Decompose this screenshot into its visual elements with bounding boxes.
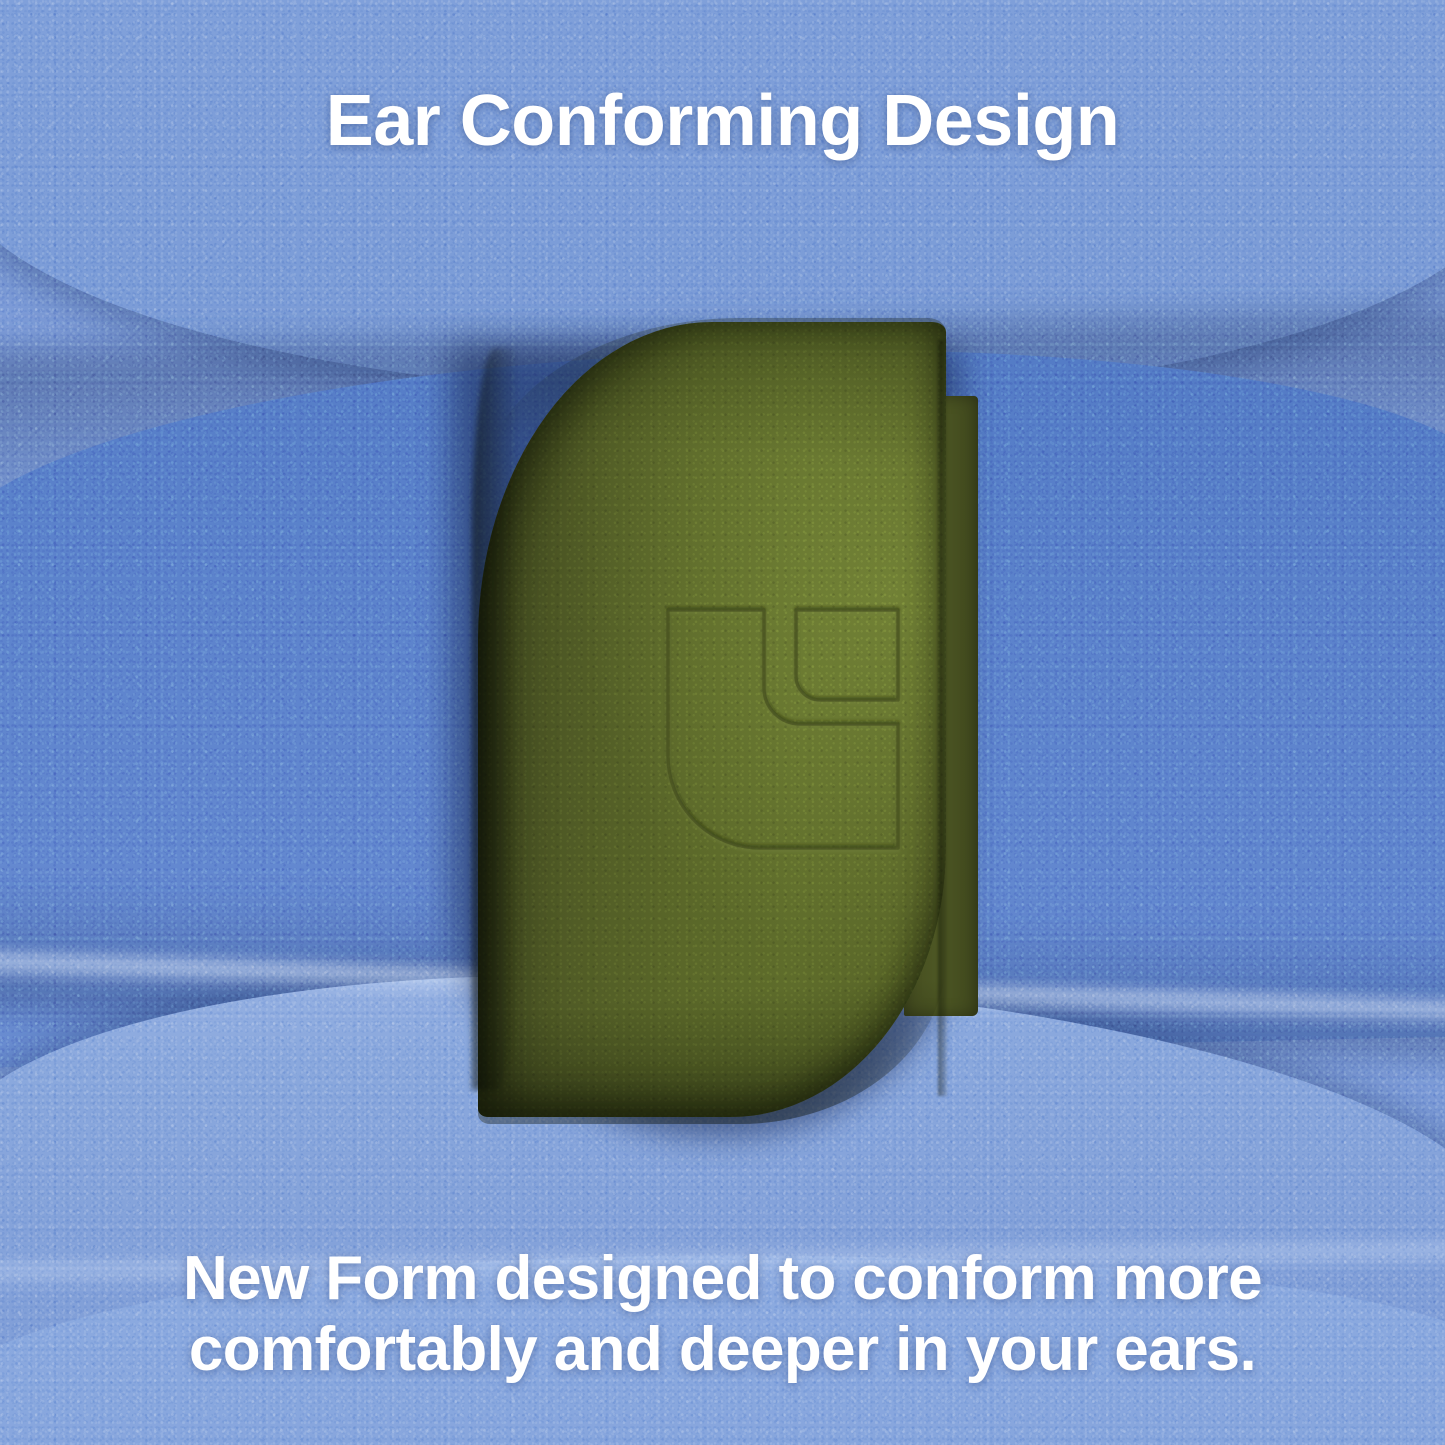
earbud-left-edge-shading bbox=[472, 348, 518, 1090]
caption-line-1: New Form designed to conform more bbox=[143, 1244, 1303, 1315]
page-title: Ear Conforming Design bbox=[0, 84, 1445, 160]
earbud-surface-texture bbox=[478, 322, 946, 1117]
caption-text: New Form designed to conform more comfor… bbox=[143, 1244, 1303, 1385]
earbud-body bbox=[478, 322, 946, 1117]
earbud-seam bbox=[938, 340, 947, 1096]
caption-line-2: comfortably and deeper in your ears. bbox=[143, 1315, 1303, 1386]
product-marketing-image: Ear Conforming Design New Form designed … bbox=[0, 0, 1445, 1445]
earbud-product bbox=[452, 322, 992, 1122]
